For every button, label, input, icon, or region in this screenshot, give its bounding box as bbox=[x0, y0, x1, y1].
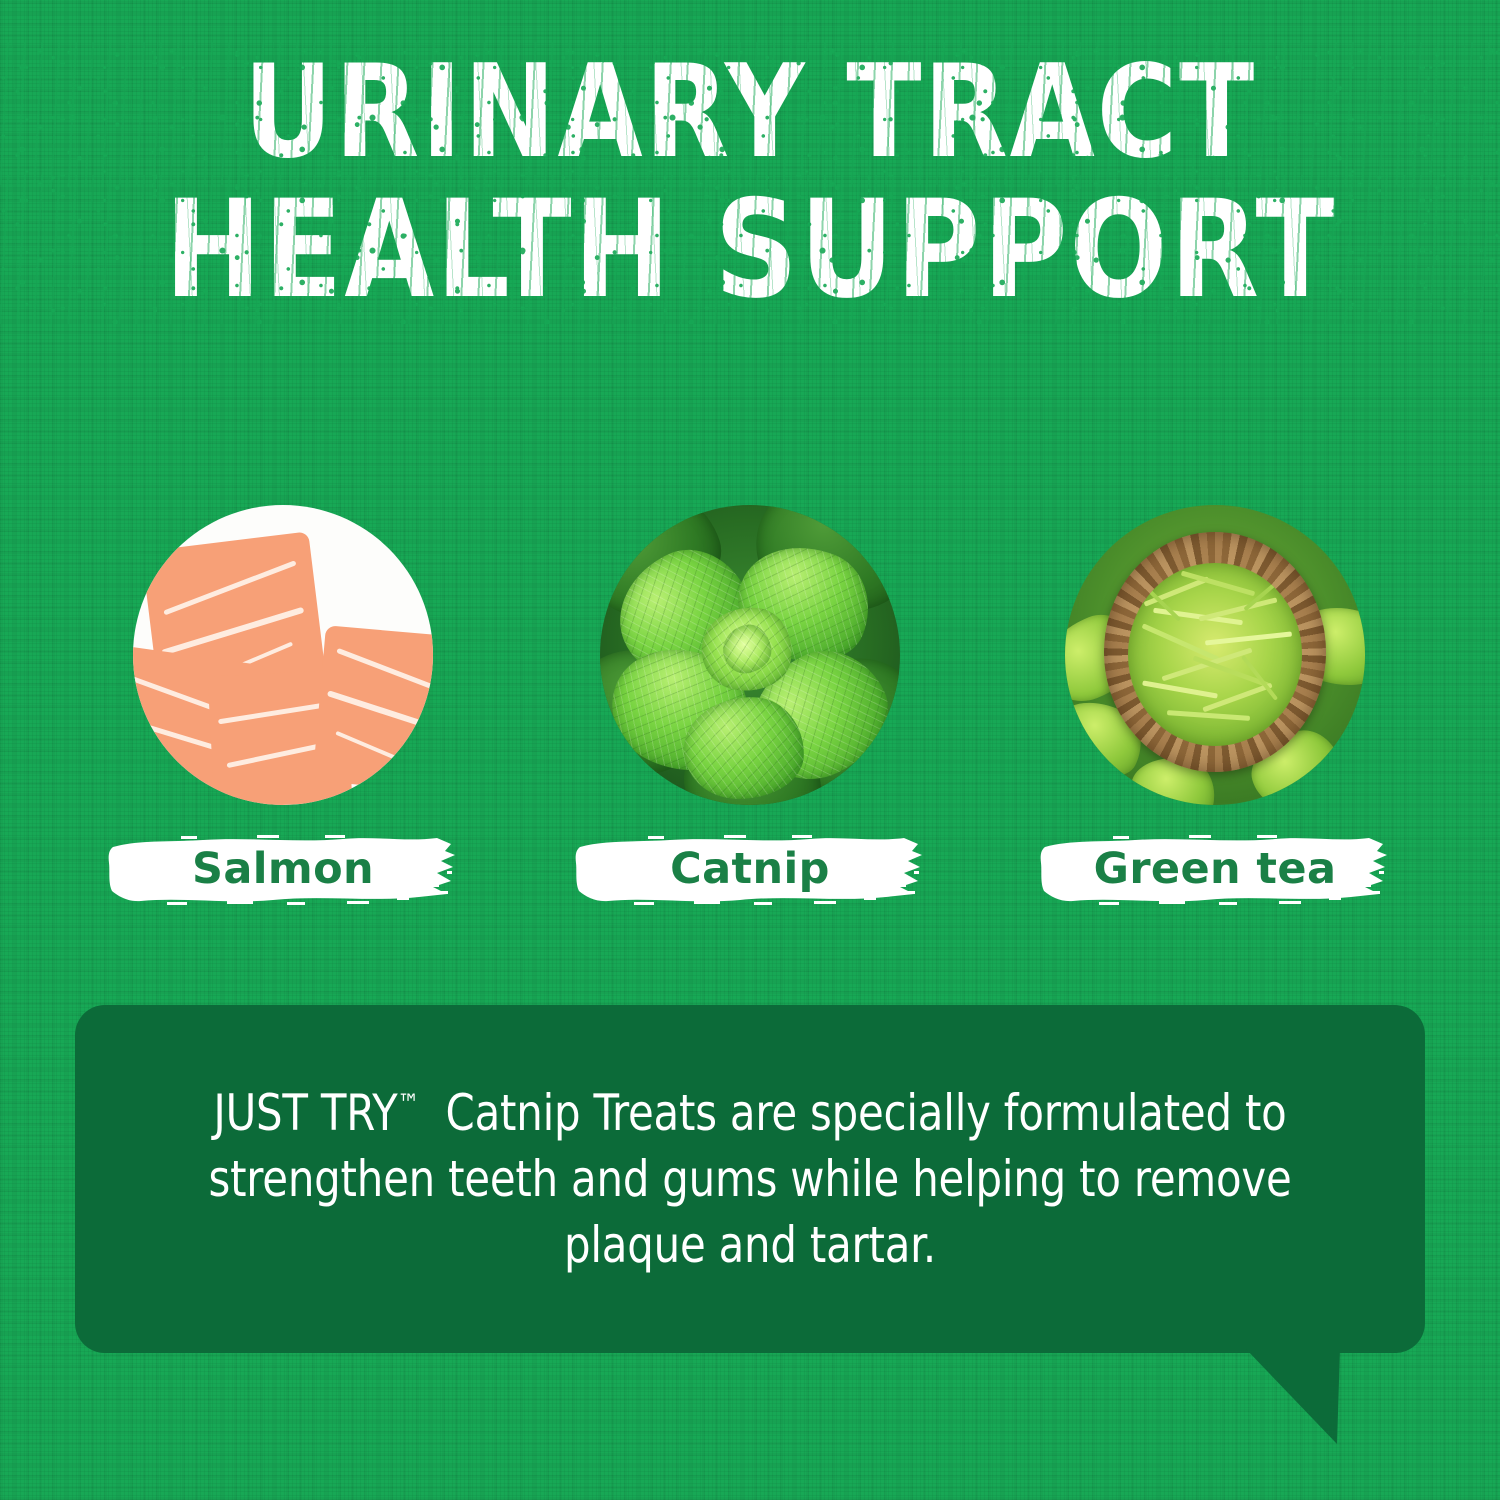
bamboo-basket bbox=[1104, 532, 1326, 772]
ingredient-item-catnip: Catnip bbox=[515, 505, 985, 907]
ingredient-row: Salmon bbox=[0, 505, 1500, 905]
headline-line-1-text: URINARY TRACT bbox=[244, 52, 1256, 175]
salmon-marbling bbox=[336, 648, 433, 693]
ingredient-label: Green tea bbox=[1094, 844, 1337, 894]
description-paragraph: JUST TRY™ Catnip Treats are specially fo… bbox=[156, 1080, 1345, 1278]
brand-name: JUST TRY bbox=[213, 1084, 397, 1142]
ingredient-badge-salmon: Salmon bbox=[107, 831, 459, 907]
description-callout: JUST TRY™ Catnip Treats are specially fo… bbox=[75, 1005, 1425, 1353]
ingredient-label: Salmon bbox=[192, 844, 374, 894]
tea-needle bbox=[1205, 632, 1292, 646]
catnip-photo bbox=[600, 505, 900, 805]
ingredient-label: Catnip bbox=[670, 844, 830, 894]
salmon-marbling bbox=[164, 560, 298, 615]
headline-line-1: URINARY TRACT bbox=[0, 52, 1500, 175]
ingredient-badge-green-tea: Green tea bbox=[1039, 831, 1391, 907]
green-tea-photo bbox=[1065, 505, 1365, 805]
salmon-marbling bbox=[326, 690, 433, 733]
tea-needle bbox=[1142, 681, 1218, 699]
headline-block: URINARY TRACT HEALTH SUPPORT bbox=[0, 52, 1500, 314]
ingredient-item-green-tea: Green tea bbox=[980, 505, 1450, 907]
tea-leaf-pile bbox=[1128, 563, 1301, 745]
headline-line-2-text: HEALTH SUPPORT bbox=[164, 185, 1336, 315]
trademark-icon: ™ bbox=[397, 1089, 419, 1119]
salmon-piece bbox=[312, 625, 433, 792]
tea-needle bbox=[1198, 597, 1276, 621]
callout-tail bbox=[1245, 1348, 1375, 1444]
ingredient-item-salmon: Salmon bbox=[48, 505, 518, 907]
ingredient-badge-catnip: Catnip bbox=[574, 831, 926, 907]
salmon-photo bbox=[133, 505, 433, 805]
product-feature-panel: URINARY TRACT HEALTH SUPPORT bbox=[0, 0, 1500, 1500]
space bbox=[419, 1084, 445, 1142]
tea-needle bbox=[1166, 710, 1249, 721]
description-text-wrap: JUST TRY™ Catnip Treats are specially fo… bbox=[75, 1005, 1425, 1353]
salmon-marbling bbox=[335, 730, 425, 771]
headline-line-2: HEALTH SUPPORT bbox=[0, 185, 1500, 315]
